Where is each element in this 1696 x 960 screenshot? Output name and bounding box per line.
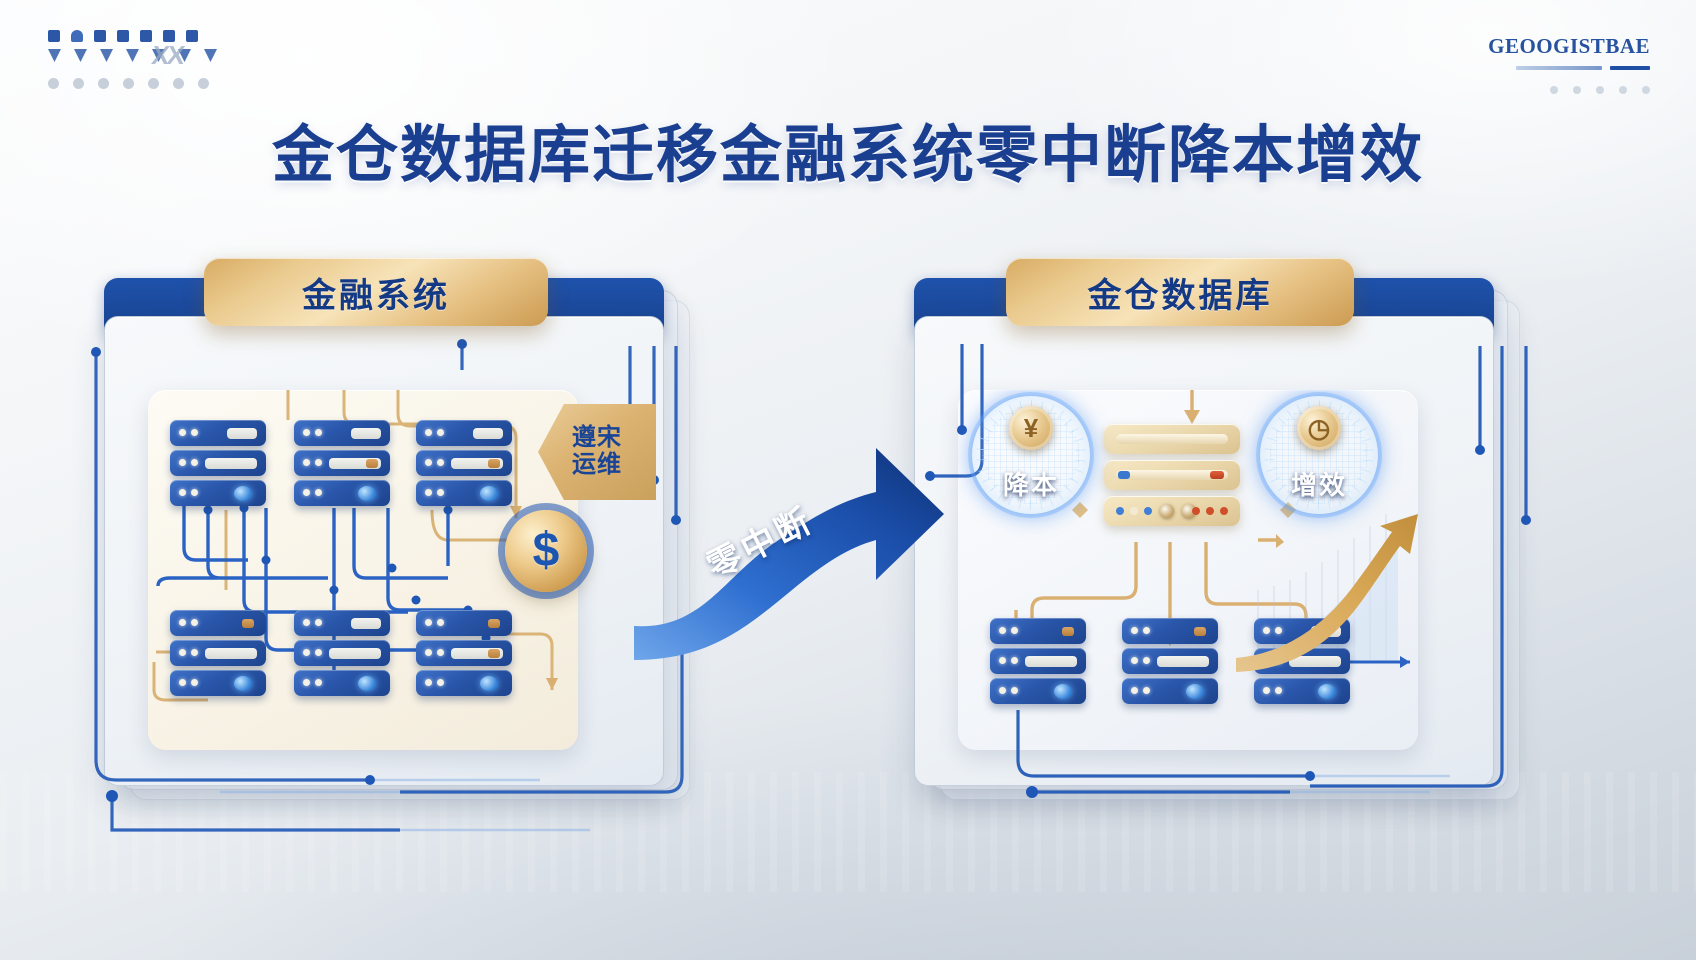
footer-gold-strip — [0, 938, 1696, 960]
kpi-badge: ¥ 降本 — [972, 396, 1090, 514]
dollar-symbol: $ — [533, 527, 560, 575]
migration-arrow: 零中断 — [630, 430, 950, 660]
growth-trend-chart — [1230, 512, 1418, 672]
yen-glyph: ¥ — [1024, 415, 1038, 441]
kpi-label-efficiency: 增效 — [1291, 465, 1347, 502]
left-panel-badge: 金融系统 — [204, 258, 548, 326]
brand-logo-right: GEOOGISTBAE — [1488, 34, 1650, 94]
brand-name-text: GEOOGISTBAE — [1488, 34, 1650, 59]
logo-glyph-text: XX — [150, 40, 185, 71]
brand-logo-left: XX — [48, 30, 238, 102]
left-panel-badge-label: 金融系统 — [302, 268, 450, 317]
hex-tag-line2: 运维 — [572, 452, 622, 479]
brand-underline — [1488, 66, 1650, 70]
clock-glyph: ◷ — [1308, 415, 1331, 441]
page-title: 金仓数据库迁移金融系统零中断降本增效 — [0, 104, 1696, 194]
right-panel-badge-label: 金仓数据库 — [1088, 268, 1273, 317]
clock-icon: ◷ — [1297, 406, 1341, 450]
kpi-label-cost: 降本 — [1003, 465, 1059, 502]
dollar-coin-icon: $ — [505, 510, 587, 592]
kpi-badge: ◷ 增效 — [1260, 396, 1378, 514]
yen-coin-icon: ¥ — [1009, 406, 1053, 450]
right-panel-badge: 金仓数据库 — [1006, 258, 1354, 326]
hex-tag-line1: 遵宋 — [572, 425, 622, 452]
database-appliance — [1104, 424, 1240, 532]
brand-dot-row — [1488, 86, 1650, 94]
